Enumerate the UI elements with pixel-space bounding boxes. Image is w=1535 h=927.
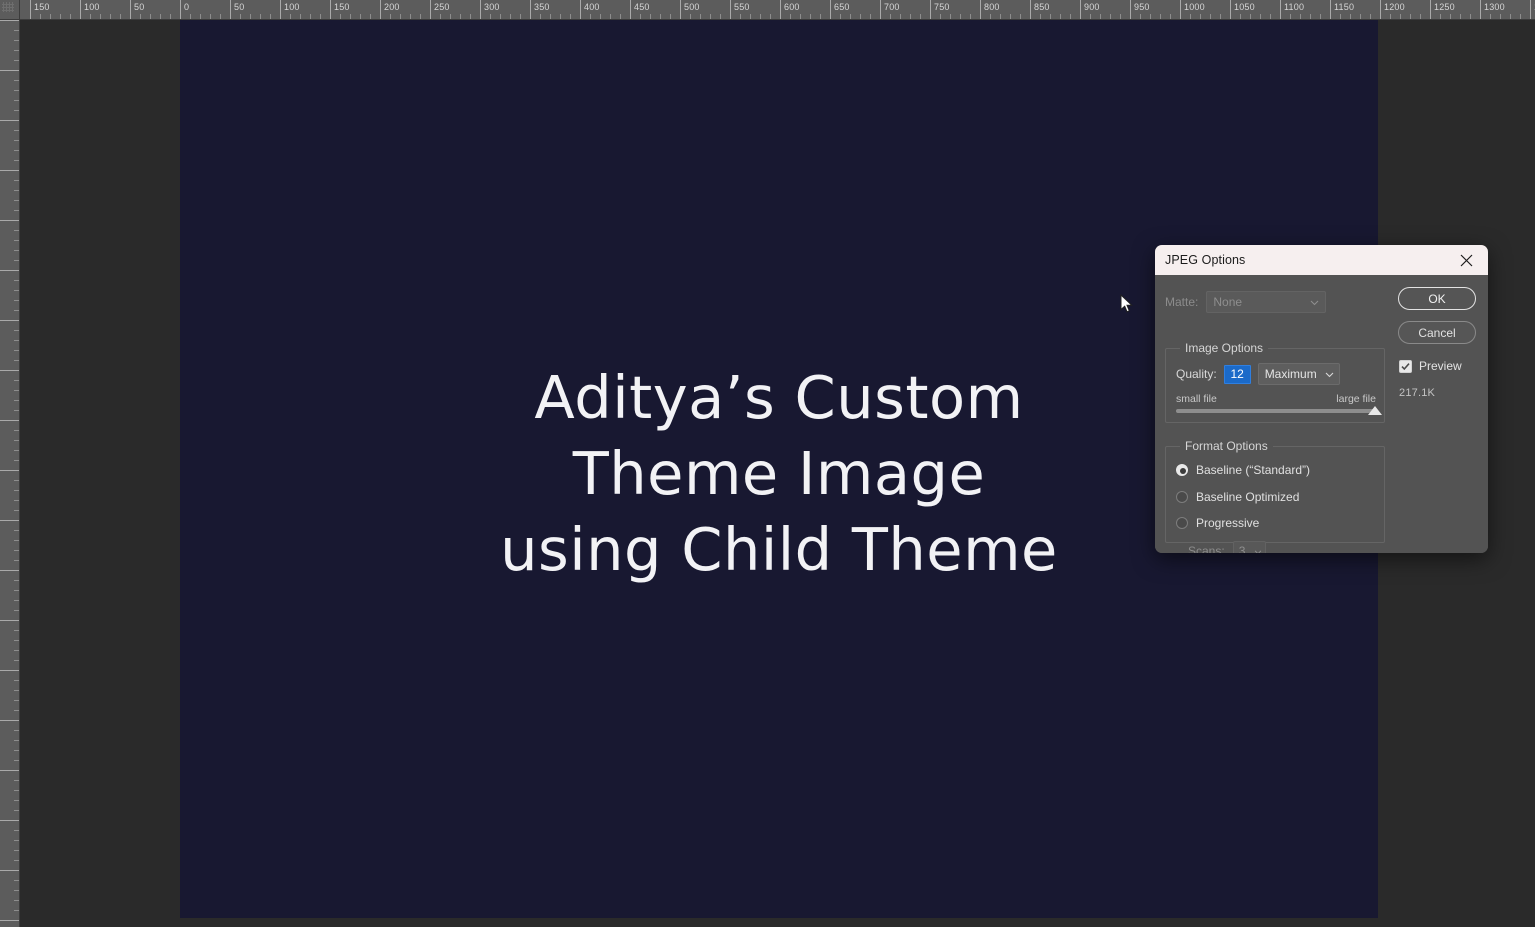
ruler-label: 600 xyxy=(784,2,800,12)
slider-thumb[interactable] xyxy=(1368,406,1382,415)
checkmark-icon[interactable] xyxy=(1399,360,1412,373)
cancel-button[interactable]: Cancel xyxy=(1398,321,1476,344)
matte-label: Matte: xyxy=(1165,295,1198,309)
ruler-label: 50 xyxy=(0,73,1,83)
ruler-label: 1200 xyxy=(1384,2,1405,12)
ruler-tick xyxy=(1230,0,1231,20)
ruler-label: 300 xyxy=(0,323,1,338)
ruler-tick xyxy=(0,770,20,771)
dialog-titlebar[interactable]: JPEG Options xyxy=(1155,245,1488,275)
close-icon[interactable] xyxy=(1444,245,1488,275)
ruler-tick xyxy=(0,620,20,621)
ruler-label: 700 xyxy=(0,723,1,738)
ok-button[interactable]: OK xyxy=(1398,287,1476,310)
ruler-tick xyxy=(0,370,20,371)
dialog-title: JPEG Options xyxy=(1165,253,1245,267)
scans-select[interactable]: 3 xyxy=(1233,541,1266,553)
ruler-tick xyxy=(0,670,20,671)
ruler-label: 700 xyxy=(884,2,900,12)
ruler-label: 1050 xyxy=(1234,2,1255,12)
radio-progressive-label: Progressive xyxy=(1196,516,1259,530)
slider-max-label: large file xyxy=(1336,393,1376,405)
ruler-label: 450 xyxy=(0,473,1,488)
format-options-title: Format Options xyxy=(1180,439,1273,453)
ruler-tick xyxy=(1530,0,1531,20)
quality-preset-select[interactable]: Maximum xyxy=(1258,363,1340,385)
preview-checkbox-row[interactable]: Preview xyxy=(1399,359,1462,373)
ruler-tick xyxy=(30,0,31,20)
ruler-label: 800 xyxy=(0,823,1,838)
radio-button-icon xyxy=(1176,464,1188,476)
chevron-down-icon xyxy=(1310,295,1319,309)
matte-select-value: None xyxy=(1213,295,1242,309)
matte-row: Matte: None xyxy=(1165,291,1326,313)
ruler-label: 500 xyxy=(0,523,1,538)
ruler-tick xyxy=(230,0,231,20)
ruler-label: 150 xyxy=(0,173,1,188)
ruler-label: 850 xyxy=(0,873,1,888)
ruler-tick xyxy=(880,0,881,20)
radio-baseline-optimized[interactable]: Baseline Optimized xyxy=(1176,490,1299,504)
quality-row: Quality: 12 Maximum xyxy=(1176,363,1340,385)
dialog-body: Matte: None Image Options Quality: 12 xyxy=(1155,275,1488,553)
ruler-tick xyxy=(0,320,20,321)
ruler-tick xyxy=(1380,0,1381,20)
radio-button-icon xyxy=(1176,491,1188,503)
ruler-label: 650 xyxy=(0,673,1,688)
ruler-tick xyxy=(630,0,631,20)
ruler-tick xyxy=(580,0,581,20)
ruler-label: 400 xyxy=(584,2,600,12)
ruler-tick xyxy=(380,0,381,20)
ruler-tick xyxy=(80,0,81,20)
ruler-tick xyxy=(680,0,681,20)
ruler-label: 500 xyxy=(684,2,700,12)
ruler-tick xyxy=(1280,0,1281,20)
ruler-label: 50 xyxy=(234,2,244,12)
ruler-tick xyxy=(0,120,20,121)
ruler-label: 1100 xyxy=(1284,2,1304,12)
radio-baseline-standard[interactable]: Baseline (“Standard”) xyxy=(1176,463,1310,477)
ruler-label: 150 xyxy=(334,2,350,12)
radio-progressive[interactable]: Progressive xyxy=(1176,516,1259,530)
quality-label: Quality: xyxy=(1176,367,1217,381)
ruler-label: 150 xyxy=(34,2,50,12)
jpeg-options-dialog[interactable]: JPEG Options Matte: None xyxy=(1155,245,1488,553)
vertical-ruler[interactable]: 0501001502002503003504004505005506006507… xyxy=(0,20,20,927)
matte-select[interactable]: None xyxy=(1206,291,1326,313)
ruler-label: 100 xyxy=(84,2,100,12)
ruler-label: 200 xyxy=(384,2,400,12)
radio-baseline-standard-label: Baseline (“Standard”) xyxy=(1196,463,1310,477)
ruler-tick xyxy=(0,570,20,571)
ruler-tick xyxy=(0,70,20,71)
scans-label: Scans: xyxy=(1188,544,1225,554)
ruler-label: 350 xyxy=(0,373,1,388)
ruler-label: 550 xyxy=(0,573,1,588)
image-options-group: Image Options Quality: 12 Maximum xyxy=(1165,348,1385,423)
ruler-label: 1250 xyxy=(1434,2,1455,12)
ruler-tick xyxy=(1030,0,1031,20)
ruler-tick xyxy=(180,0,181,20)
ruler-tick xyxy=(0,220,20,221)
quality-preset-value: Maximum xyxy=(1265,367,1317,381)
ruler-tick xyxy=(730,0,731,20)
radio-baseline-optimized-label: Baseline Optimized xyxy=(1196,490,1299,504)
ruler-tick xyxy=(0,720,20,721)
ruler-label: 900 xyxy=(1084,2,1100,12)
ruler-tick xyxy=(0,870,20,871)
ruler-label: 300 xyxy=(484,2,500,12)
ruler-label: 200 xyxy=(0,223,1,238)
preview-label: Preview xyxy=(1419,359,1462,373)
horizontal-ruler[interactable]: 1501005005010015020025030035040045050055… xyxy=(20,0,1535,20)
ruler-label: 0 xyxy=(184,2,189,12)
ruler-tick xyxy=(1430,0,1431,20)
ruler-label: 250 xyxy=(434,2,450,12)
ruler-tick xyxy=(0,820,20,821)
format-options-group: Format Options Baseline (“Standard”) Bas… xyxy=(1165,446,1385,543)
ruler-label: 650 xyxy=(834,2,850,12)
ruler-label: 800 xyxy=(984,2,1000,12)
slider-captions: small file large file xyxy=(1176,393,1376,405)
ruler-label: 950 xyxy=(1134,2,1150,12)
ruler-label: 1300 xyxy=(1484,2,1505,12)
ruler-tick xyxy=(0,420,20,421)
ruler-tick xyxy=(780,0,781,20)
ruler-label: 100 xyxy=(0,123,1,138)
ruler-label: 0 xyxy=(0,23,1,28)
ruler-label: 550 xyxy=(734,2,750,12)
ruler-label: 1150 xyxy=(1334,2,1354,12)
ruler-tick xyxy=(0,520,20,521)
ruler-tick xyxy=(0,20,20,21)
ruler-tick xyxy=(930,0,931,20)
ruler-tick xyxy=(980,0,981,20)
ruler-label: 350 xyxy=(534,2,550,12)
ruler-tick xyxy=(530,0,531,20)
ruler-tick xyxy=(0,470,20,471)
ruler-tick xyxy=(130,0,131,20)
ruler-tick xyxy=(0,170,20,171)
slider-min-label: small file xyxy=(1176,393,1217,405)
ruler-tick xyxy=(1080,0,1081,20)
ruler-label: 1000 xyxy=(1184,2,1205,12)
scans-select-value: 3 xyxy=(1239,544,1246,554)
ruler-tick xyxy=(430,0,431,20)
ruler-tick xyxy=(1480,0,1481,20)
ruler-tick xyxy=(480,0,481,20)
ruler-tick xyxy=(1330,0,1331,20)
quality-input[interactable]: 12 xyxy=(1224,365,1251,384)
radio-button-icon xyxy=(1176,517,1188,529)
ruler-tick xyxy=(0,920,20,921)
ruler-label: 50 xyxy=(134,2,144,12)
ruler-tick xyxy=(1130,0,1131,20)
chevron-down-icon xyxy=(1325,367,1334,381)
ruler-corner xyxy=(0,0,20,20)
ruler-label: 400 xyxy=(0,423,1,438)
ruler-tick xyxy=(1180,0,1181,20)
ruler-tick xyxy=(830,0,831,20)
ruler-label: 450 xyxy=(634,2,650,12)
slider-track[interactable] xyxy=(1176,409,1376,413)
ruler-tick xyxy=(0,270,20,271)
ruler-tick xyxy=(280,0,281,20)
ruler-label: 250 xyxy=(0,273,1,288)
photoshop-app-window: 1501005005010015020025030035040045050055… xyxy=(0,0,1535,927)
ruler-label: 750 xyxy=(0,773,1,788)
chevron-down-icon xyxy=(1254,544,1262,554)
scans-row: Scans: 3 xyxy=(1188,541,1266,553)
ruler-label: 900 xyxy=(0,923,1,927)
quality-slider[interactable]: small file large file xyxy=(1176,393,1376,413)
ruler-label: 750 xyxy=(934,2,950,12)
ruler-label: 850 xyxy=(1034,2,1050,12)
image-options-title: Image Options xyxy=(1180,341,1268,355)
ruler-label: 100 xyxy=(284,2,300,12)
ruler-label: 600 xyxy=(0,623,1,638)
ruler-tick xyxy=(330,0,331,20)
file-size-label: 217.1K xyxy=(1399,387,1435,399)
